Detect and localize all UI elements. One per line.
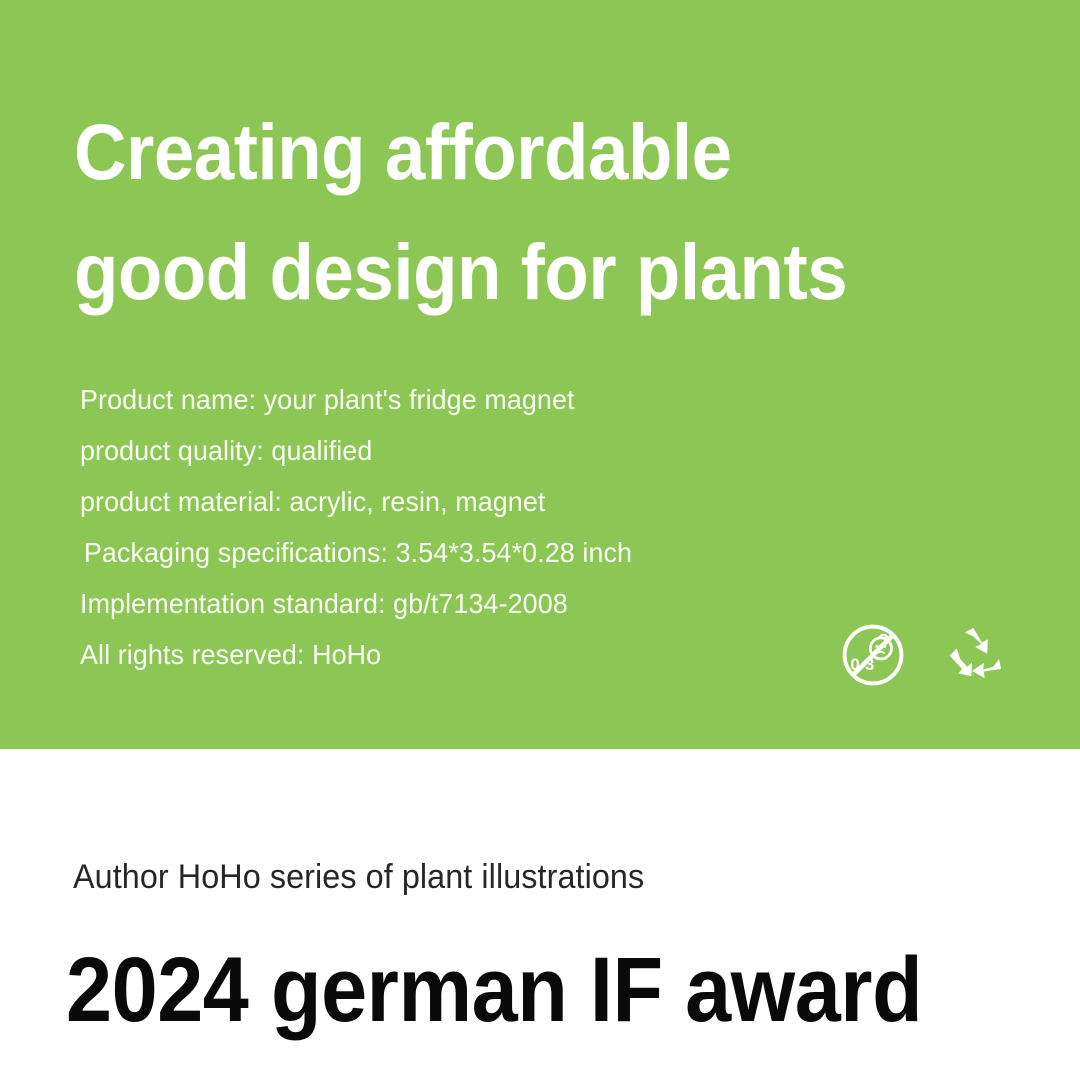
spec-implementation-standard: Implementation standard: gb/t7134-2008 — [80, 578, 944, 629]
spec-packaging-specifications: Packaging specifications: 3.54*3.54*0.28… — [80, 527, 944, 578]
page-title: Creating affordable good design for plan… — [74, 92, 957, 332]
author-series-subtitle: Author HoHo series of plant illustration… — [73, 856, 644, 898]
award-title: 2024 german IF award — [66, 937, 922, 1043]
compliance-icon-row: 0-3 — [840, 622, 1007, 688]
spec-product-quality: product quality: qualified — [80, 425, 944, 476]
svg-text:0-3: 0-3 — [851, 656, 875, 674]
no-children-under-3-icon: 0-3 — [840, 622, 906, 688]
award-panel: Author HoHo series of plant illustration… — [0, 749, 1080, 1080]
product-info-card: Creating affordable good design for plan… — [0, 0, 1080, 1080]
spec-product-material: product material: acrylic, resin, magnet — [80, 476, 944, 527]
recycling-icon — [941, 622, 1007, 688]
spec-all-rights-reserved: All rights reserved: HoHo — [80, 629, 944, 680]
spec-product-name: Product name: your plant's fridge magnet — [80, 374, 944, 425]
green-info-panel: Creating affordable good design for plan… — [0, 0, 1080, 749]
